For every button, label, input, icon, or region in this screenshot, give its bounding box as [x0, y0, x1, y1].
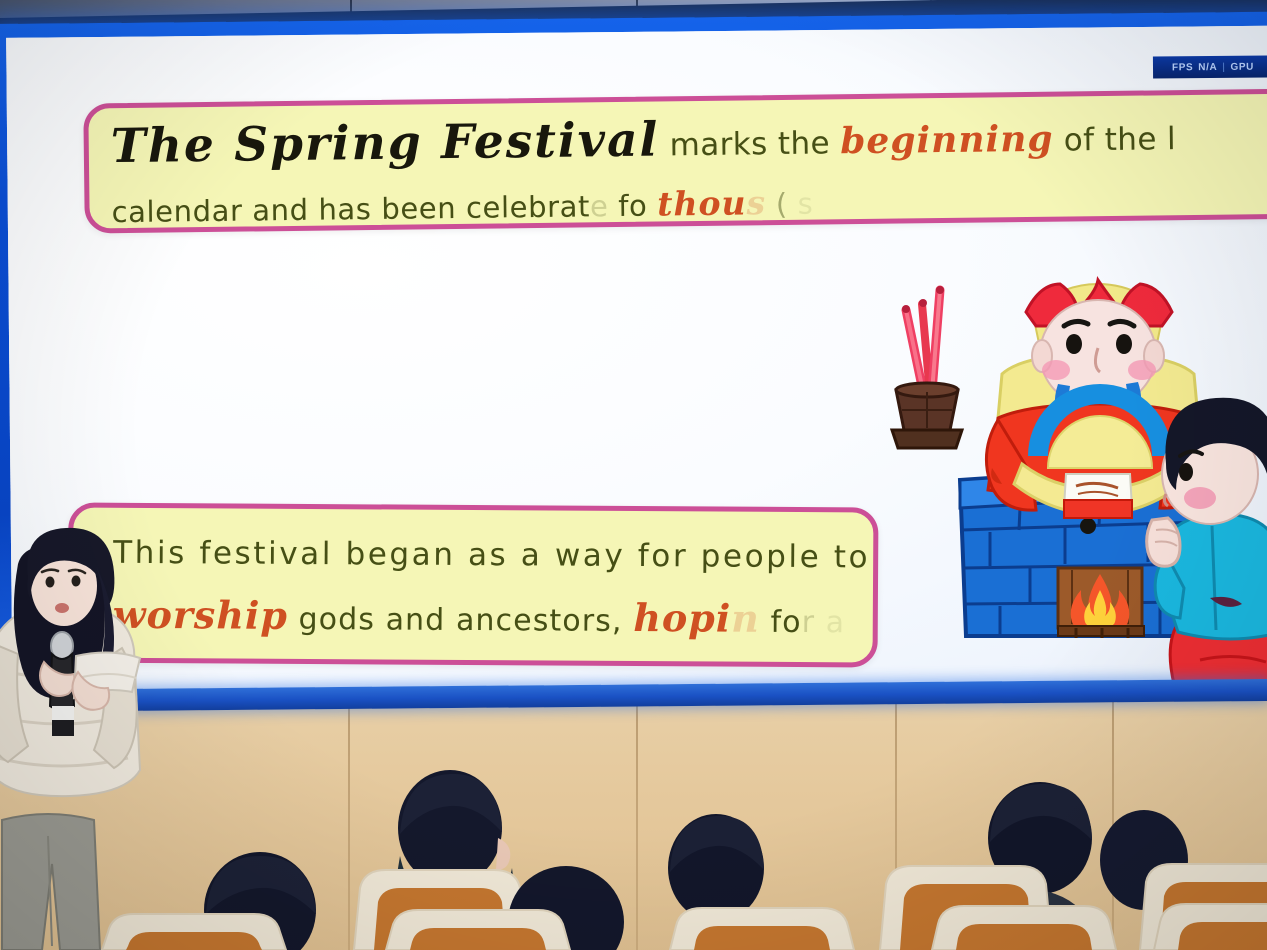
incense-censer-icon: [892, 286, 962, 448]
fps-gpu-overlay: FPS N/A | GPU: [1153, 55, 1267, 78]
text-run-hand-red: n: [731, 596, 760, 641]
text-run-plain: (: [766, 187, 788, 221]
text-run-plain: fo: [760, 605, 802, 640]
text-run-plain: fo: [608, 189, 657, 224]
text-run-plain: This festival began as a way for people …: [113, 535, 870, 576]
fps-value: N/A: [1198, 61, 1217, 72]
fire-icon: [1058, 568, 1144, 638]
text-run-plain: marks the: [659, 125, 840, 163]
classroom-presentation-scene: FPS N/A | GPU: [0, 0, 1267, 950]
text-run-hand: The Spring Festival: [110, 112, 659, 174]
seated-audience: [0, 760, 1267, 950]
text-run-plain: calendar and has been celebrat: [111, 189, 590, 229]
callout-top-line-1: The Spring Festival marks the beginning …: [110, 104, 1267, 191]
callout-bottom-line-1: This festival began as a way for people …: [113, 526, 847, 594]
text-run-plain: e: [590, 189, 609, 223]
fps-label: FPS: [1172, 62, 1193, 73]
text-run-plain: gods and ancestors,: [288, 602, 634, 639]
text-run-hand-red: thou: [657, 183, 747, 223]
overlay-divider: |: [1222, 61, 1225, 72]
kitchen-god-worship-illustration: [880, 268, 1267, 693]
audience-head: [668, 814, 764, 922]
slide-callout-bottom: This festival began as a way for people …: [68, 503, 879, 668]
text-run-plain: r: [802, 605, 816, 640]
text-run-plain: of the l: [1053, 121, 1176, 158]
text-run-hand-red: hopi: [633, 595, 731, 641]
callout-bottom-line-2: worship gods and ancestors, hopin for a: [113, 590, 847, 657]
text-run-plain: a: [815, 605, 845, 640]
gpu-label: GPU: [1230, 61, 1254, 72]
text-run-plain: s: [788, 187, 814, 221]
slide-callout-top: The Spring Festival marks the beginning …: [83, 88, 1267, 233]
text-run-hand-red: s: [746, 183, 766, 222]
text-run-hand-red: beginning: [840, 118, 1054, 163]
